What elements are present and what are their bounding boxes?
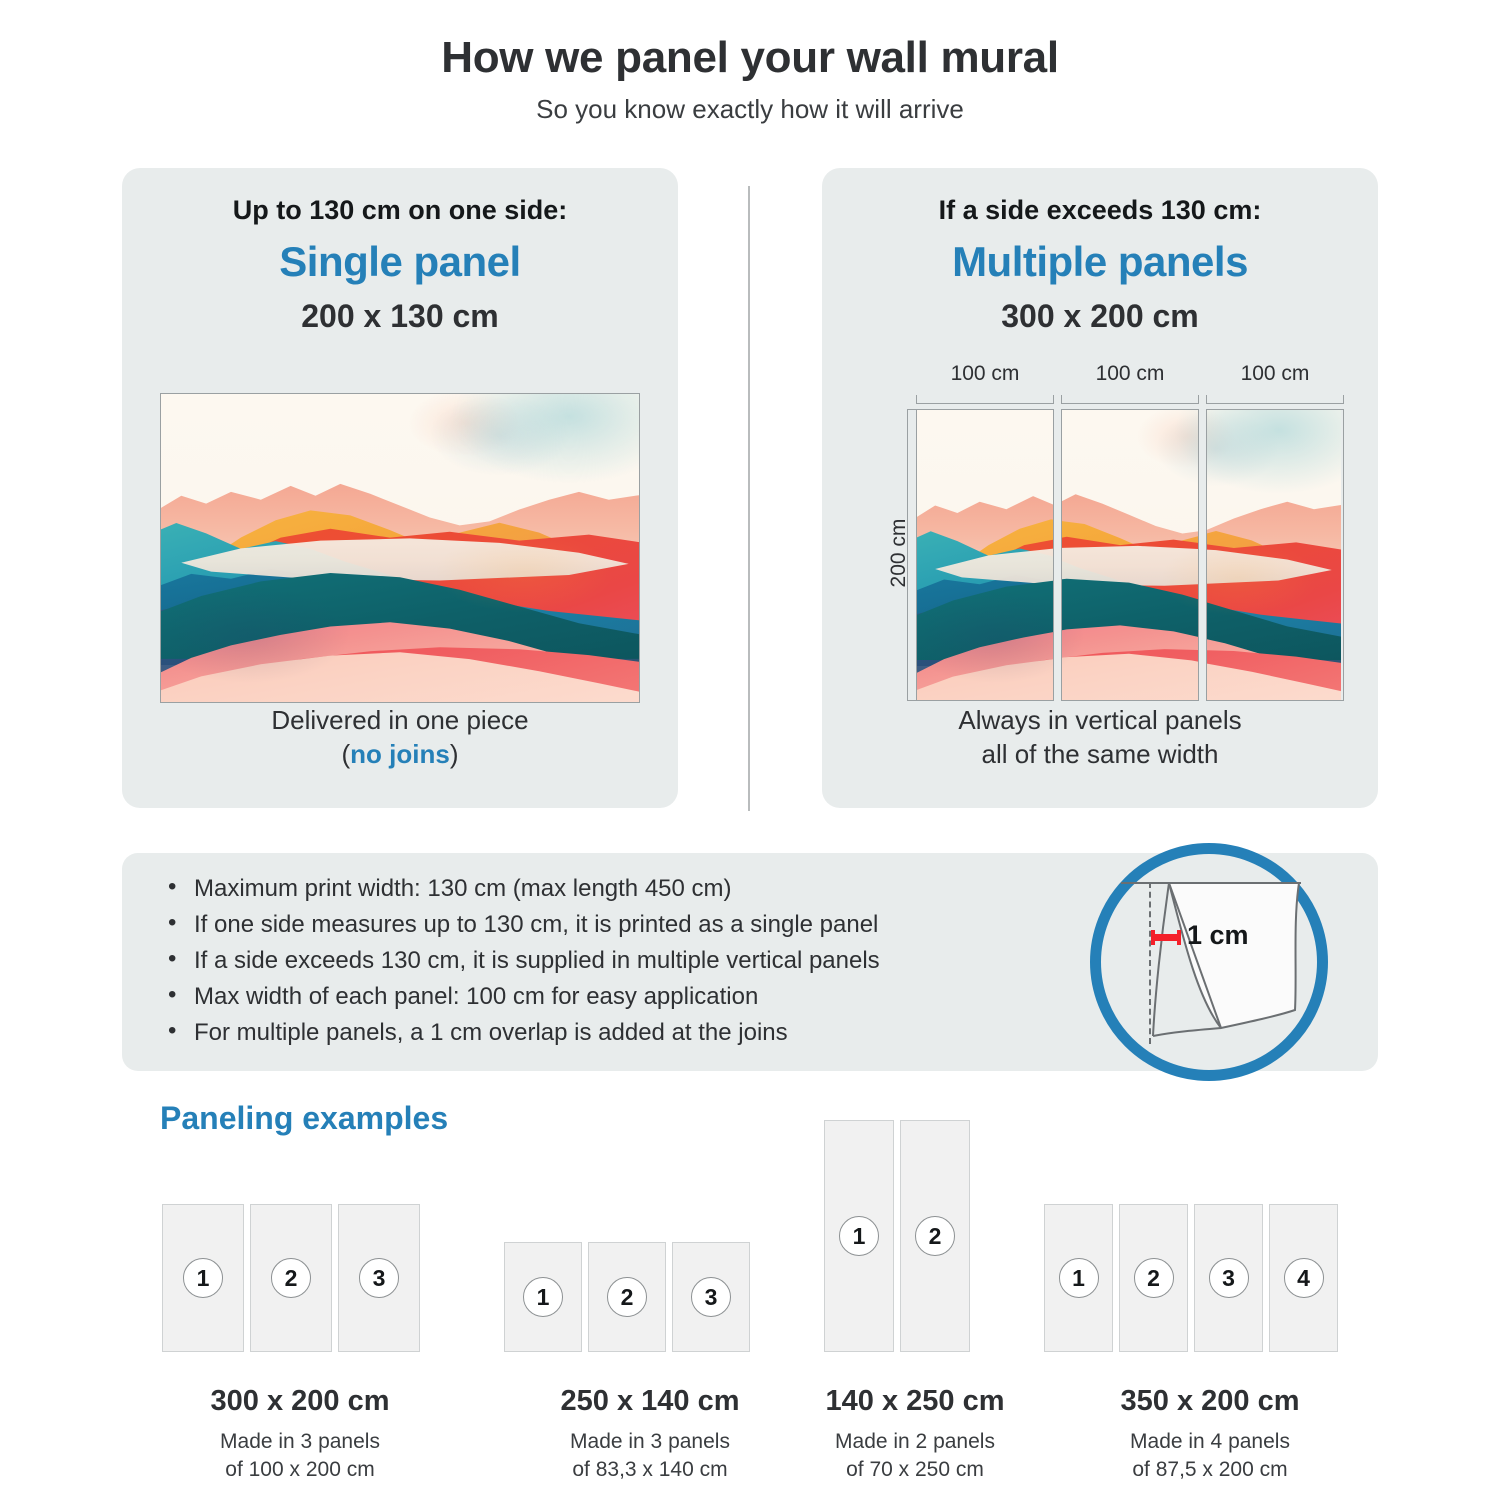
example-panel: 1 (824, 1120, 894, 1352)
width-bracket-icon-2 (1061, 395, 1199, 404)
example-note-line2: of 100 x 200 cm (120, 1456, 480, 1484)
mural-artwork-slice-1 (917, 409, 1054, 701)
single-panel-caption: Delivered in one piece (no joins) (122, 703, 678, 772)
panel-number-badge: 1 (1059, 1258, 1099, 1298)
multiple-panels-title: Multiple panels (822, 238, 1378, 286)
overlap-measure-label: 1 cm (1187, 920, 1249, 951)
single-panel-kicker: Up to 130 cm on one side: (122, 194, 678, 226)
mural-panel-1 (916, 409, 1054, 701)
example-panels-140x250: 1 2 (824, 1120, 970, 1352)
example-panels-300x200: 1 2 3 (162, 1204, 420, 1352)
example-panel: 3 (338, 1204, 420, 1352)
panel-number-badge: 1 (523, 1277, 563, 1317)
width-tick-label-2: 100 cm (1061, 361, 1199, 387)
example-panel: 2 (588, 1242, 666, 1352)
example-size-label: 140 x 250 cm (800, 1385, 1030, 1418)
panel-group-diagram: 100 cm 100 cm 100 cm 200 cm (874, 361, 1344, 701)
panel-number-badge: 3 (691, 1277, 731, 1317)
example-panel: 4 (1269, 1204, 1338, 1352)
panel-number-badge: 4 (1284, 1258, 1324, 1298)
panel-number-badge: 3 (359, 1258, 399, 1298)
single-panel-dimensions: 200 x 130 cm (122, 298, 678, 335)
mural-artwork-slice-3 (1206, 409, 1341, 701)
multiple-panels-card: If a side exceeds 130 cm: Multiple panel… (822, 168, 1378, 808)
example-panel: 2 (1119, 1204, 1188, 1352)
multiple-panels-dimensions: 300 x 200 cm (822, 298, 1378, 335)
example-panel: 2 (900, 1120, 970, 1352)
example-size-label: 250 x 140 cm (480, 1385, 820, 1418)
height-measurement: 200 cm (874, 409, 916, 701)
example-size-label: 300 x 200 cm (120, 1385, 480, 1418)
example-panel: 2 (250, 1204, 332, 1352)
single-panel-caption-line2: (no joins) (122, 737, 678, 772)
multiple-panels-caption-line2: all of the same width (822, 737, 1378, 772)
width-tick-1: 100 cm (916, 361, 1054, 407)
comparison-cards: Up to 130 cm on one side: Single panel 2… (0, 168, 1500, 813)
mural-panel-2 (1061, 409, 1199, 701)
example-panel: 3 (672, 1242, 750, 1352)
width-bracket-icon-1 (916, 395, 1054, 404)
single-panel-title: Single panel (122, 238, 678, 286)
example-caption-350x200: 350 x 200 cm Made in 4 panels of 87,5 x … (1030, 1385, 1390, 1484)
paren-close: ) (450, 739, 459, 769)
example-300x200: 1 2 3 300 x 200 cm Made in 3 panels of 1… (120, 1120, 480, 1500)
page-header: How we panel your wall mural So you know… (0, 0, 1500, 125)
panel-number-badge: 1 (183, 1258, 223, 1298)
card-divider (748, 186, 750, 811)
example-panel: 1 (1044, 1204, 1113, 1352)
width-tick-label-3: 100 cm (1206, 361, 1344, 387)
overlap-diagram-circle: 1 cm (1090, 843, 1328, 1081)
width-tick-label-1: 100 cm (916, 361, 1054, 387)
multiple-panels-caption-line1: Always in vertical panels (822, 703, 1378, 738)
mural-panels-row (916, 409, 1344, 701)
example-panel: 1 (504, 1242, 582, 1352)
example-note-line1: Made in 3 panels (480, 1428, 820, 1456)
single-panel-card: Up to 130 cm on one side: Single panel 2… (122, 168, 678, 808)
mural-panel-3 (1206, 409, 1344, 701)
mural-artwork-slice-2 (1061, 409, 1199, 701)
multiple-panels-caption: Always in vertical panels all of the sam… (822, 703, 1378, 772)
example-note-line1: Made in 3 panels (120, 1428, 480, 1456)
height-tick-label: 200 cm (887, 473, 911, 633)
width-tick-3: 100 cm (1206, 361, 1344, 407)
example-note-line2: of 87,5 x 200 cm (1030, 1456, 1390, 1484)
width-bracket-icon-3 (1206, 395, 1344, 404)
example-panels-250x140: 1 2 3 (504, 1242, 750, 1352)
example-note-line1: Made in 4 panels (1030, 1428, 1390, 1456)
example-panels-350x200: 1 2 3 4 (1044, 1204, 1338, 1352)
width-measurement-row: 100 cm 100 cm 100 cm (916, 361, 1344, 407)
example-size-label: 350 x 200 cm (1030, 1385, 1390, 1418)
no-joins-highlight: no joins (350, 739, 450, 769)
panel-number-badge: 2 (1134, 1258, 1174, 1298)
panel-number-badge: 2 (915, 1216, 955, 1256)
paren-open: ( (341, 739, 350, 769)
panel-number-badge: 3 (1209, 1258, 1249, 1298)
page-title: How we panel your wall mural (0, 34, 1500, 82)
example-caption-250x140: 250 x 140 cm Made in 3 panels of 83,3 x … (480, 1385, 820, 1484)
panel-number-badge: 2 (607, 1277, 647, 1317)
mural-artwork-single (160, 393, 640, 703)
multiple-panels-kicker: If a side exceeds 130 cm: (822, 194, 1378, 226)
example-350x200: 1 2 3 4 350 x 200 cm Made in 4 panels of… (1030, 1120, 1390, 1500)
example-caption-140x250: 140 x 250 cm Made in 2 panels of 70 x 25… (800, 1385, 1030, 1484)
overlap-measure-marker-icon (1151, 934, 1181, 941)
page-subtitle: So you know exactly how it will arrive (0, 94, 1500, 125)
single-panel-caption-line1: Delivered in one piece (122, 703, 678, 738)
panel-number-badge: 2 (271, 1258, 311, 1298)
width-tick-2: 100 cm (1061, 361, 1199, 407)
overlap-diagram-inner: 1 cm (1101, 854, 1317, 1070)
peeling-sheet-icon (1147, 880, 1305, 1042)
paneling-examples-section: 1 2 3 300 x 200 cm Made in 3 panels of 1… (0, 1120, 1500, 1500)
example-note-line2: of 70 x 250 cm (800, 1456, 1030, 1484)
example-panel: 3 (1194, 1204, 1263, 1352)
panel-number-badge: 1 (839, 1216, 879, 1256)
example-note-line1: Made in 2 panels (800, 1428, 1030, 1456)
example-caption-300x200: 300 x 200 cm Made in 3 panels of 100 x 2… (120, 1385, 480, 1484)
example-note-line2: of 83,3 x 140 cm (480, 1456, 820, 1484)
example-panel: 1 (162, 1204, 244, 1352)
example-140x250: 1 2 140 x 250 cm Made in 2 panels of 70 … (800, 1120, 1030, 1500)
example-250x140: 1 2 3 250 x 140 cm Made in 3 panels of 8… (480, 1120, 820, 1500)
